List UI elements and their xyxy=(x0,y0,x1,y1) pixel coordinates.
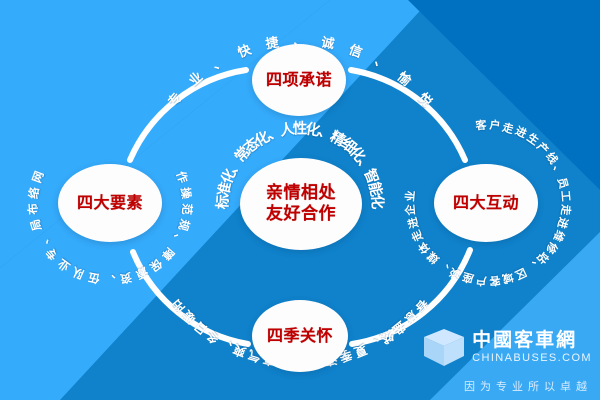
diagram-canvas: 专业、快捷、诚信、愉悦网络布局、专业队伍、资源保障、规范操作客户走进生产线、员工… xyxy=(0,0,600,400)
hub-center-label: 亲情相处 友好合作 xyxy=(266,183,336,226)
ring-arc-top-right xyxy=(351,70,465,160)
node-left[interactable]: 四大要素 xyxy=(58,164,162,242)
logo-name-cn: 中國客車網 xyxy=(472,331,592,350)
node-bottom[interactable]: 四季关怀 xyxy=(252,300,348,372)
node-bottom-label: 四季关怀 xyxy=(267,327,333,345)
node-top-label: 四项承诺 xyxy=(266,71,332,89)
node-top[interactable]: 四项承诺 xyxy=(252,44,346,116)
logo-text-block: 中國客車網 CHINABUSES.COM xyxy=(472,331,592,364)
node-right-label: 四大互动 xyxy=(453,194,519,212)
cube-logo-icon xyxy=(422,325,466,369)
watermark-logo: 中國客車網 CHINABUSES.COM 因为专业所以卓越 xyxy=(420,328,592,394)
node-left-label: 四大要素 xyxy=(77,194,143,212)
node-right[interactable]: 四大互动 xyxy=(434,164,538,242)
hub-center[interactable]: 亲情相处 友好合作 xyxy=(240,158,362,250)
hub-center-label-line2: 友好合作 xyxy=(266,204,336,225)
ring-arc-top-left xyxy=(130,70,246,160)
ring-arc-bottom-left xyxy=(133,252,248,344)
logo-row: 中國客車網 CHINABUSES.COM xyxy=(422,325,592,369)
logo-slogan: 因为专业所以卓越 xyxy=(464,378,592,394)
hub-center-label-line1: 亲情相处 xyxy=(266,183,336,204)
logo-name-en: CHINABUSES.COM xyxy=(472,353,592,364)
